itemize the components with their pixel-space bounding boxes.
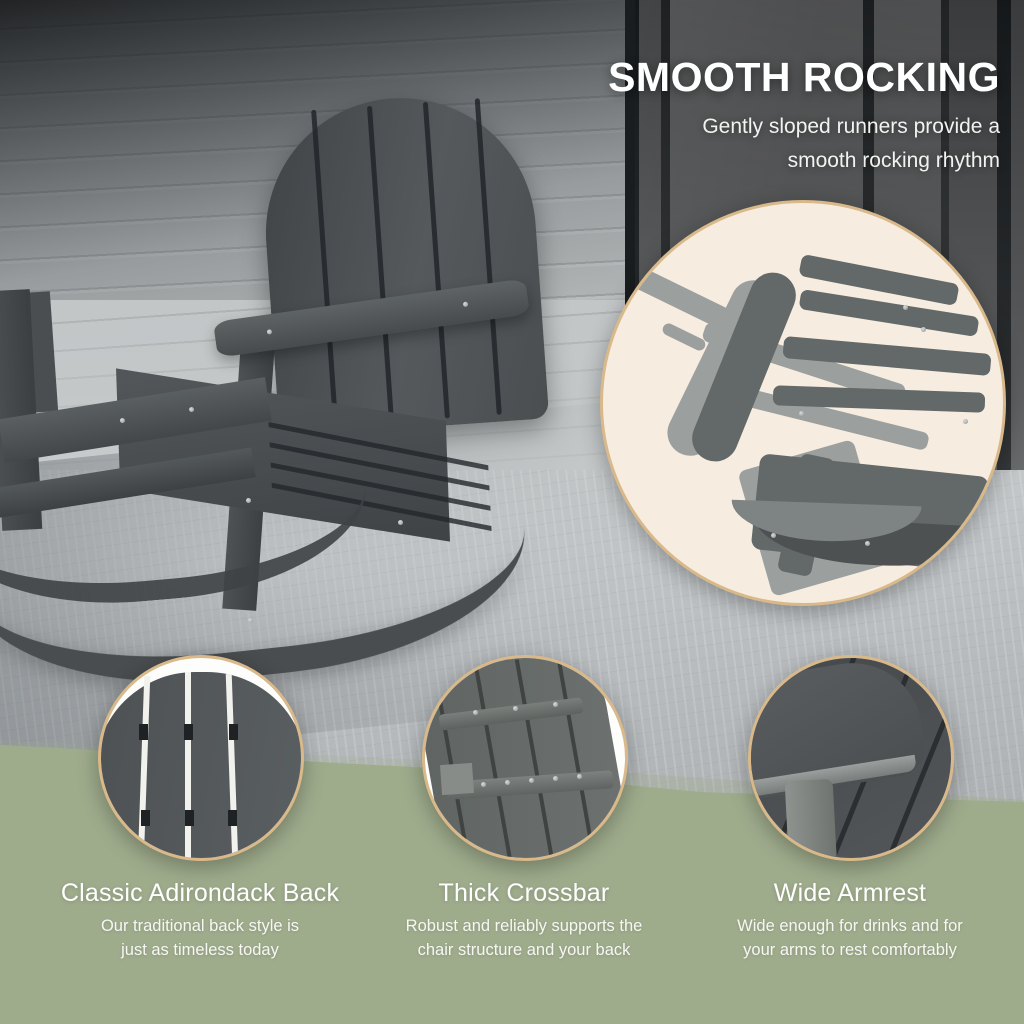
callout-circle-thick-crossbar bbox=[422, 655, 628, 861]
product-feature-graphic: SMOOTH ROCKING Gently sloped runners pro… bbox=[0, 0, 1024, 1024]
feature-caption-adirondack-back: Classic Adirondack Back Our traditional … bbox=[10, 878, 390, 963]
feature-caption-thick-crossbar: Thick Crossbar Robust and reliably suppo… bbox=[368, 878, 680, 963]
feature-body-line-1: Robust and reliably supports the bbox=[368, 915, 680, 939]
feature-body: Wide enough for drinks and for your arms… bbox=[690, 915, 1010, 963]
feature-title: Wide Armrest bbox=[690, 878, 1010, 908]
page-title: SMOOTH ROCKING bbox=[540, 56, 1000, 99]
feature-body-line-2: your arms to rest comfortably bbox=[690, 939, 1010, 963]
feature-body-line-2: chair structure and your back bbox=[368, 939, 680, 963]
feature-body-line-1: Wide enough for drinks and for bbox=[690, 915, 1010, 939]
feature-body: Our traditional back style is just as ti… bbox=[10, 915, 390, 963]
subtitle-line-2: smooth rocking rhythm bbox=[560, 144, 1000, 178]
feature-body-line-2: just as timeless today bbox=[10, 939, 390, 963]
feature-caption-wide-armrest: Wide Armrest Wide enough for drinks and … bbox=[690, 878, 1010, 963]
feature-title: Thick Crossbar bbox=[368, 878, 680, 908]
headline-subtitle: Gently sloped runners provide a smooth r… bbox=[560, 110, 1000, 178]
callout-circle-wide-armrest bbox=[748, 655, 954, 861]
armrest-post bbox=[785, 779, 838, 861]
feature-body: Robust and reliably supports the chair s… bbox=[368, 915, 680, 963]
callout-circle-smooth-rocking bbox=[600, 200, 1006, 606]
feature-body-line-1: Our traditional back style is bbox=[10, 915, 390, 939]
subtitle-line-1: Gently sloped runners provide a bbox=[560, 110, 1000, 144]
feature-title: Classic Adirondack Back bbox=[10, 878, 390, 908]
callout-circle-adirondack-back bbox=[98, 655, 304, 861]
